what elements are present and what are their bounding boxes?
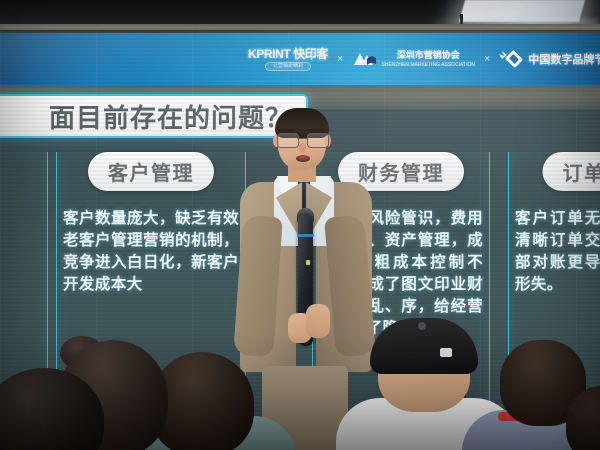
speaker-mouth (296, 155, 310, 162)
mountain-wave-icon (352, 50, 378, 68)
card-body-3: 客户订单无序，造清晰订单交织在一部对账更导致延无形失。 (509, 208, 600, 296)
sponsor1-name: KPRINT 快印客 (248, 48, 328, 60)
sponsor-logo-kprint: KPRINT 快印客 让营销更精彩 (248, 48, 328, 71)
sponsor-logo-sma: 深圳市营销协会 SHENZHEN MARKETING ASSOCIATION (352, 50, 475, 68)
speaker-figure (236, 108, 376, 450)
speaker-nose (299, 143, 306, 153)
lens-left (277, 133, 299, 148)
microphone-band (297, 234, 314, 237)
card-heading-pill-1: 客户管理 (88, 152, 214, 191)
separator-icon-2: × (484, 53, 490, 65)
speaker-brow-left (278, 129, 295, 132)
sponsor2-sub: SHENZHEN MARKETING ASSOCIATION (381, 62, 475, 68)
lens-right (307, 133, 329, 148)
separator-icon-1: × (337, 53, 343, 65)
sponsor-logo-cdbf: 中国数字品牌节 (499, 50, 600, 68)
card-body-1: 客户数量庞大，缺乏有效老客户管理营销的机制，竞争进入白日化，新客户开发成本大 (57, 208, 245, 296)
microphone-led (306, 260, 310, 265)
glasses-bridge (297, 138, 307, 139)
card-body-0: 、 (0, 208, 47, 230)
speaker-hand-right (306, 304, 330, 338)
cap-tag (440, 348, 452, 357)
conference-scene: KPRINT 快印客 让营销更精彩 × 深圳市营销协会 SHENZHEN MAR… (0, 0, 600, 450)
card-heading-pill-3: 订单 (543, 152, 600, 191)
sponsor2-name: 深圳市营销协会 (397, 50, 460, 61)
card-heading-3: 订单 (563, 163, 600, 185)
sponsor1-tagline: 让营销更精彩 (265, 62, 311, 71)
sponsor-banner: KPRINT 快印客 让营销更精彩 × 深圳市营销协会 SHENZHEN MAR… (0, 33, 600, 85)
card-heading-1: 客户管理 (108, 163, 194, 185)
cap-button (418, 322, 426, 330)
speaker-brow-right (308, 129, 325, 132)
ceiling (0, 0, 600, 30)
diamond-emblem-icon (499, 50, 525, 68)
sponsor3-name: 中国数字品牌节 (528, 51, 600, 67)
